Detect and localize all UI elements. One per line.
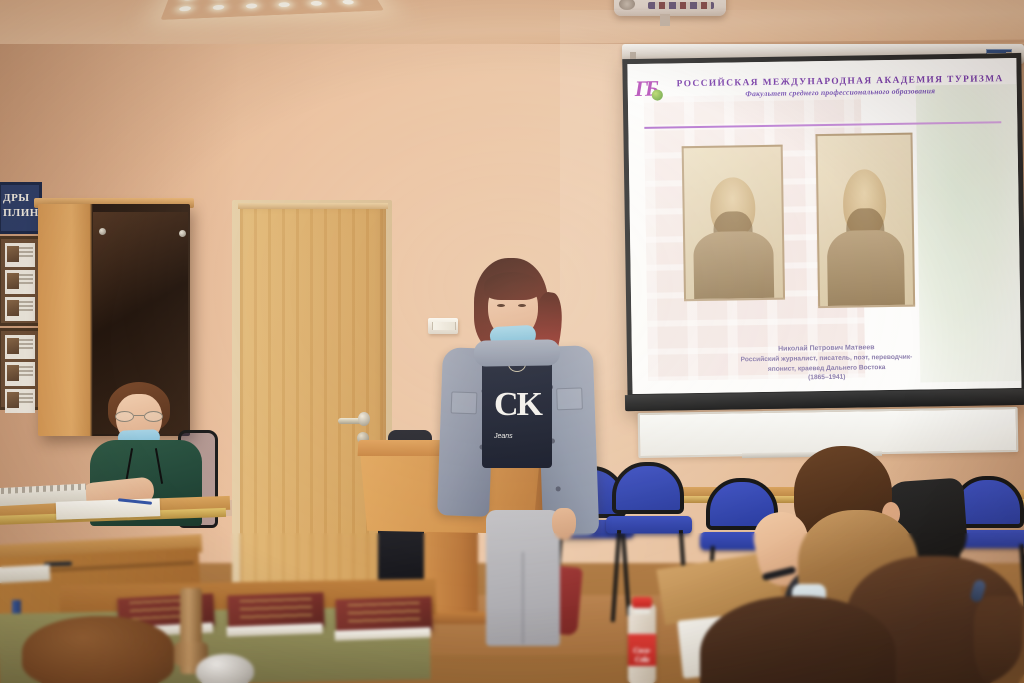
poster-sheet — [5, 335, 35, 359]
poster-sheet — [5, 297, 35, 321]
door-lintel — [238, 203, 388, 209]
wall-poster-board-mid — [0, 236, 42, 326]
slide-caption: Николай Петрович Матвеев Российский журн… — [655, 341, 998, 385]
projection-screen: ГБ РОССИЙСКАЯ МЕЖДУНАРОДНАЯ АКАДЕМИЯ ТУР… — [622, 53, 1024, 411]
classroom-photo: ДРЫ ПЛИН — [0, 0, 1024, 683]
bottle-cap — [632, 597, 652, 608]
book-on-desk — [0, 564, 50, 583]
audience-woman-brunette — [700, 596, 900, 683]
presenter-jacket-collar — [474, 339, 560, 366]
tshirt-brand-text: CK Jeans — [494, 386, 548, 432]
poster-sheet — [5, 389, 35, 413]
coca-cola-wordmark: Coca-Cola — [628, 646, 656, 664]
wall-poster-board-bottom — [0, 328, 42, 410]
classroom-door[interactable] — [240, 206, 386, 612]
cabinet-knob[interactable] — [179, 230, 186, 237]
wood-carving — [22, 616, 174, 683]
coca-cola-bottle: Coca-Cola — [628, 604, 656, 683]
standing-presenter: CK Jeans — [412, 252, 592, 652]
tshirt-brand-sub: Jeans — [494, 418, 548, 456]
glasses-icon — [115, 411, 163, 422]
cabinet-knob[interactable] — [99, 228, 106, 235]
coca-cola-label: Coca-Cola — [628, 634, 656, 666]
globe-icon — [652, 90, 663, 101]
slide-portrait-young — [815, 132, 915, 308]
wall-sign-top: ДРЫ ПЛИН — [0, 182, 42, 234]
door-handle-base — [358, 412, 370, 426]
poster-sheet — [5, 270, 35, 294]
silver-vessel — [196, 654, 254, 683]
presenter-hand — [552, 508, 576, 540]
presenter-fringe — [484, 272, 540, 300]
presentation-slide: ГБ РОССИЙСКАЯ МЕЖДУНАРОДНАЯ АКАДЕМИЯ ТУР… — [627, 58, 1021, 394]
poster-sheet — [5, 243, 35, 267]
wall-sign-line2: ПЛИН — [3, 206, 39, 221]
rmat-logo-icon: ГБ — [634, 77, 664, 103]
display-book — [335, 596, 432, 633]
display-book — [227, 592, 324, 629]
poster-sheet — [5, 362, 35, 386]
projector-ports-icon — [648, 2, 714, 9]
jeans-seam — [522, 552, 524, 644]
slide-portrait-elder — [681, 144, 785, 301]
projector-mount — [660, 14, 670, 26]
